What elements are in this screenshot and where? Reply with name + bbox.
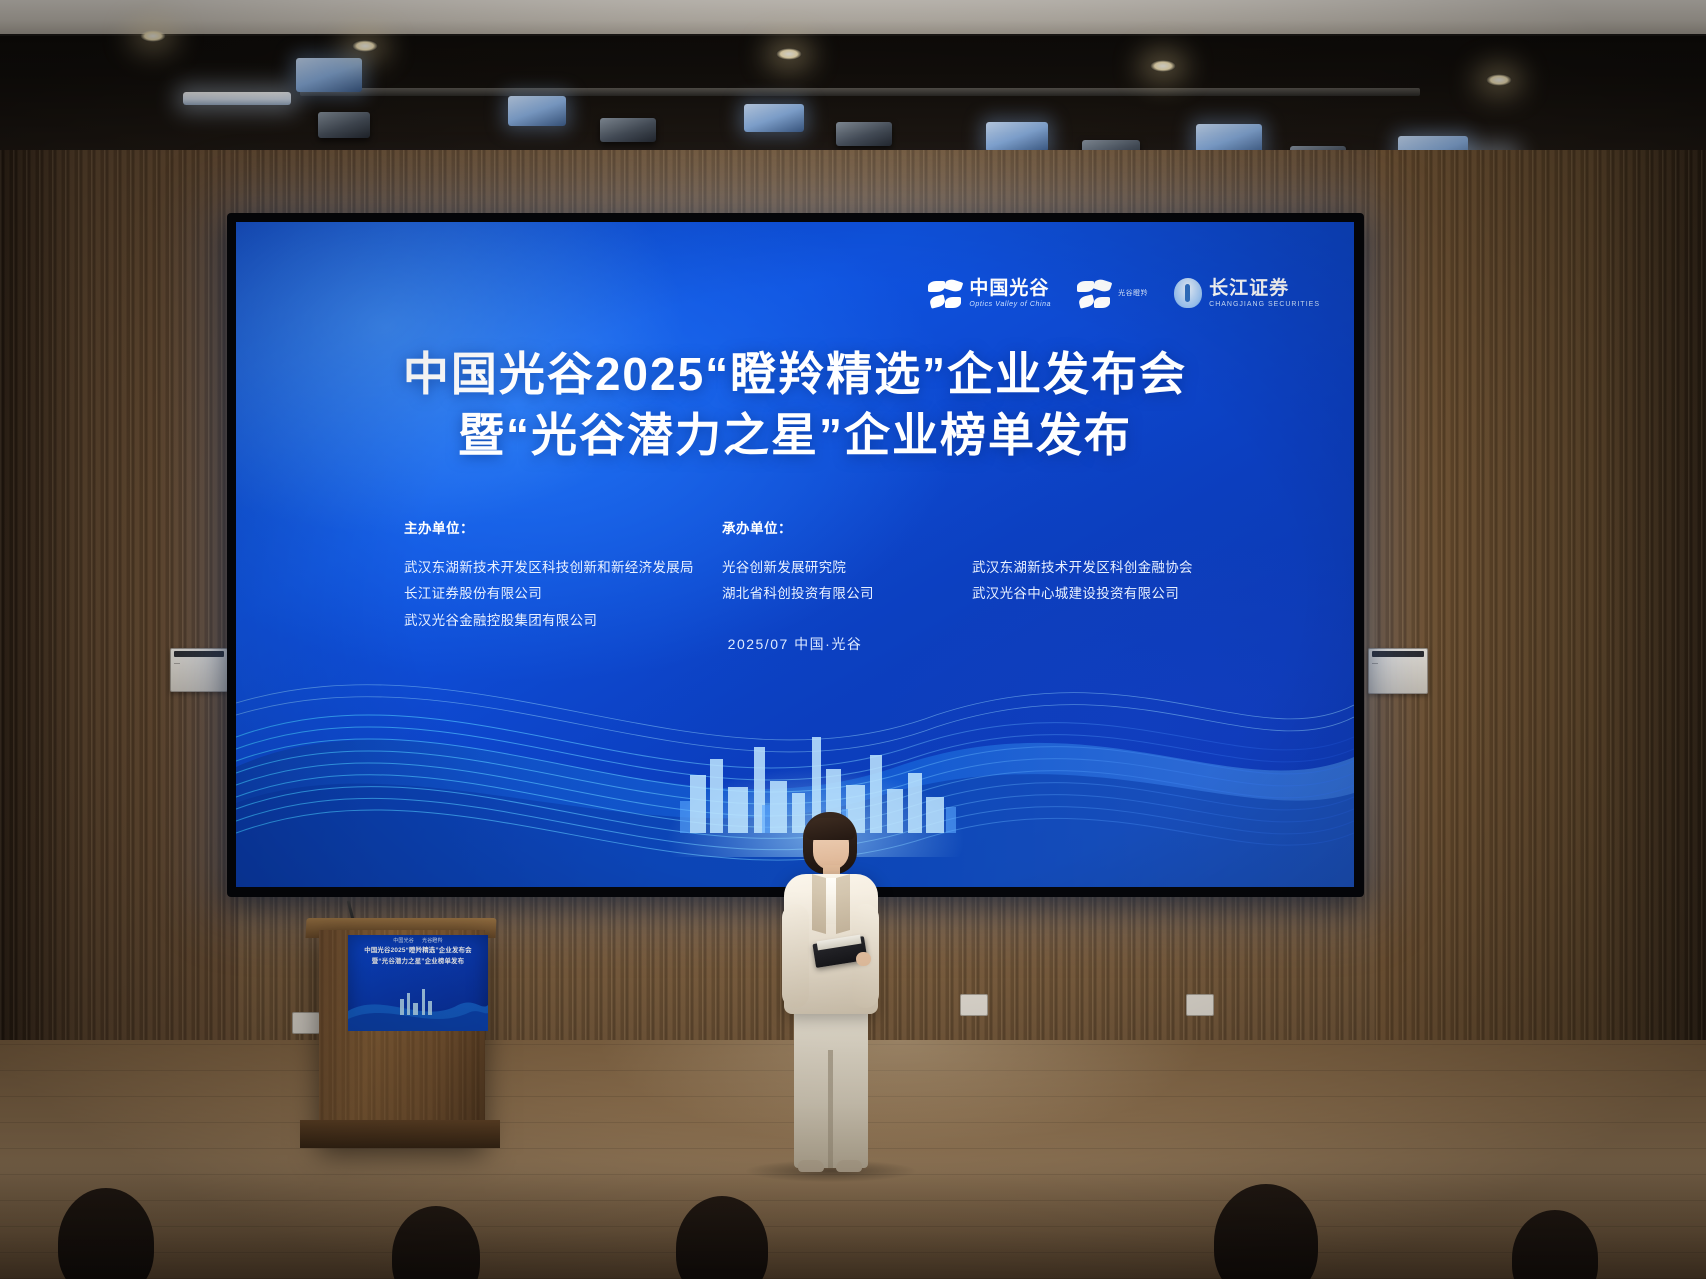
ceiling-downlight — [776, 48, 802, 60]
podium-screen: 中国光谷 光谷瞪羚 中国光谷2025“瞪羚精选”企业发布会 暨“光谷潜力之星”企… — [348, 935, 488, 1031]
wall-outlet-right[interactable] — [1186, 994, 1214, 1016]
presenter-arm-left — [782, 904, 809, 1008]
logo-sub-text: 光谷瞪羚 — [1118, 288, 1148, 298]
lighting-truss — [300, 88, 1420, 96]
podium-title-line-1: 中国光谷2025“瞪羚精选”企业发布会 — [348, 946, 488, 957]
foreground-gradient — [0, 1159, 1706, 1279]
ceiling-downlight — [140, 30, 166, 42]
ceiling-downlight — [1486, 74, 1512, 86]
pinwheel-icon — [928, 278, 962, 308]
panel-label: — — [1369, 659, 1427, 671]
stage-light-fixture — [744, 104, 804, 132]
stage-light-fixture — [986, 122, 1048, 152]
presenter-hand — [856, 952, 871, 966]
wall-outlet-center[interactable] — [960, 994, 988, 1016]
event-title-line-1: 中国光谷2025“瞪羚精选”企业发布会 — [236, 344, 1354, 405]
pinwheel-icon — [1077, 278, 1111, 308]
stage-light-fixture — [318, 112, 370, 138]
wall-control-panel-left[interactable]: — — [170, 648, 228, 692]
host-item: 武汉东湖新技术开发区科技创新和新经济发展局 — [404, 555, 722, 581]
optics-valley-gazelle-logo: 光谷瞪羚 — [1077, 278, 1148, 308]
china-optics-valley-logo: 中国光谷 Optics Valley of China — [928, 278, 1051, 308]
stage-light-fixture — [600, 118, 656, 142]
podium-logo-right: 光谷瞪羚 — [422, 937, 443, 944]
coorganizer-column-1: 承办单位： 光谷创新发展研究院 湖北省科创投资有限公司 — [722, 517, 972, 634]
coorganizer-column-2: 承办单位： 武汉东湖新技术开发区科创金融协会 武汉光谷中心城建设投资有限公司 — [972, 517, 1224, 634]
coorganizer-item: 武汉光谷中心城建设投资有限公司 — [972, 581, 1224, 607]
date-location-text: 2025/07 中国·光谷 — [236, 634, 1354, 654]
presenter — [770, 812, 890, 1172]
podium-logo-row: 中国光谷 光谷瞪羚 — [348, 937, 488, 944]
presenter-hair-front — [806, 818, 855, 840]
coorganizer-item: 光谷创新发展研究院 — [722, 555, 972, 581]
ceiling-downlight — [1150, 60, 1176, 72]
presenter-trouser-seam — [828, 1050, 833, 1168]
logo-cn-text: 中国光谷 — [969, 279, 1051, 298]
coorganizer-item: 武汉东湖新技术开发区科创金融协会 — [972, 555, 1224, 581]
logo-en-text: CHANGJIANG SECURITIES — [1209, 301, 1320, 308]
coorganizer-item: 湖北省科创投资有限公司 — [722, 581, 972, 607]
stage-light-fixture — [836, 122, 892, 146]
organizers-block: 主办单位： 武汉东湖新技术开发区科技创新和新经济发展局 长江证券股份有限公司 武… — [404, 517, 1224, 634]
led-screen[interactable]: 中国光谷 Optics Valley of China 光谷瞪羚 长江证券 CH… — [236, 222, 1354, 887]
screen-title-block: 中国光谷2025“瞪羚精选”企业发布会 暨“光谷潜力之星”企业榜单发布 — [236, 344, 1354, 465]
ceiling-downlight — [352, 40, 378, 52]
podium-title-line-2: 暨“光谷潜力之星”企业榜单发布 — [348, 957, 488, 968]
changjiang-securities-logo: 长江证券 CHANGJIANG SECURITIES — [1174, 278, 1320, 308]
host-item: 长江证券股份有限公司 — [404, 581, 722, 607]
screen-logo-row: 中国光谷 Optics Valley of China 光谷瞪羚 长江证券 CH… — [928, 278, 1320, 308]
host-item: 武汉光谷金融控股集团有限公司 — [404, 608, 722, 634]
event-title-line-2: 暨“光谷潜力之星”企业榜单发布 — [236, 405, 1354, 466]
panel-label: — — [171, 659, 227, 671]
podium-base — [300, 1120, 500, 1148]
podium-logo-left: 中国光谷 — [393, 937, 414, 944]
ceiling-light-tube — [183, 92, 291, 105]
stage-light-fixture — [508, 96, 566, 126]
logo-en-text: Optics Valley of China — [969, 301, 1051, 308]
presenter-lapel-left — [812, 874, 826, 934]
wall-control-panel-right[interactable]: — — [1368, 648, 1428, 694]
logo-cn-text: 长江证券 — [1209, 279, 1320, 298]
host-column: 主办单位： 武汉东湖新技术开发区科技创新和新经济发展局 长江证券股份有限公司 武… — [404, 517, 722, 634]
presenter-lapel-right — [836, 874, 850, 934]
changjiang-mark-icon — [1174, 278, 1202, 308]
podium-wave-graphic — [348, 981, 488, 1031]
coorganizer-label: 承办单位： — [722, 517, 972, 537]
panel-display — [174, 651, 224, 657]
stage-light-fixture — [296, 58, 362, 92]
ceiling-seam — [0, 34, 1706, 36]
wall-outlet-left[interactable] — [292, 1012, 320, 1034]
auditorium-scene: — — — [0, 0, 1706, 1279]
ceiling-slab — [0, 0, 1706, 34]
host-label: 主办单位： — [404, 517, 722, 537]
panel-display — [1372, 651, 1424, 657]
